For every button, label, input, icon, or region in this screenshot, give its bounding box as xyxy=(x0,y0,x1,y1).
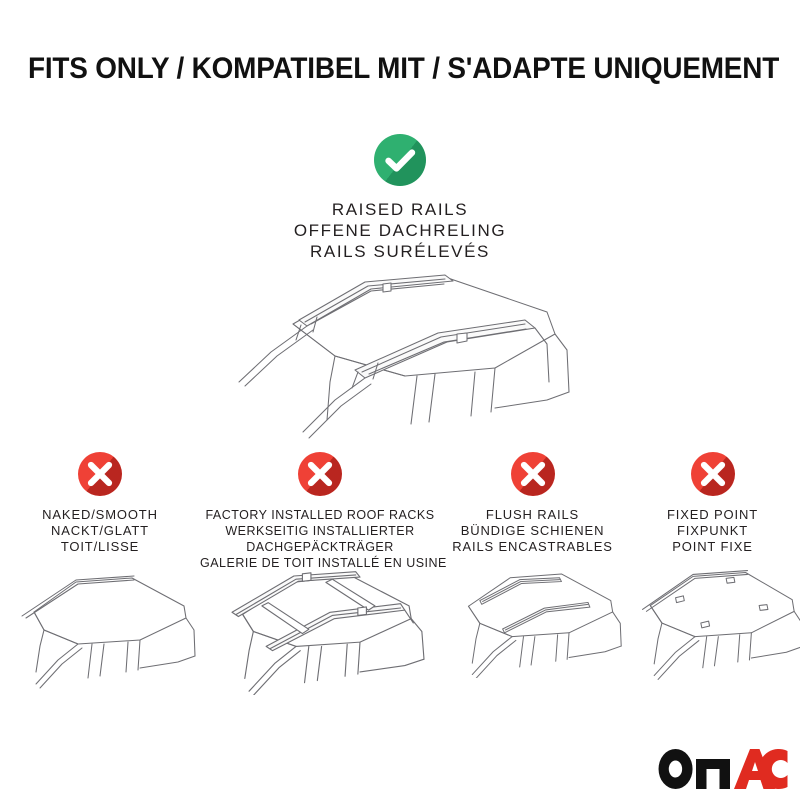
incompatible-item-factory-racks: FACTORY INSTALLED ROOF RACKS WERKSEITIG … xyxy=(200,452,440,571)
incompatible-item-flush-rails: FLUSH RAILS BÜNDIGE SCHIENEN RAILS ENCAS… xyxy=(440,452,625,555)
compatible-label-fr: RAILS SURÉLEVÉS xyxy=(0,241,800,262)
item-label-de: FIXPUNKT xyxy=(625,523,800,539)
item-label: FLUSH RAILS BÜNDIGE SCHIENEN RAILS ENCAS… xyxy=(440,507,625,555)
compatible-labels: RAISED RAILS OFFENE DACHRELING RAILS SUR… xyxy=(0,199,800,262)
car-roof-flush-rails-illustration xyxy=(440,555,625,678)
compatible-label-en: RAISED RAILS xyxy=(0,199,800,220)
omac-logo xyxy=(658,748,788,790)
item-label-en: FIXED POINT xyxy=(625,507,800,523)
item-label-fr: RAILS ENCASTRABLES xyxy=(440,539,625,555)
item-label-en: NAKED/SMOOTH xyxy=(0,507,200,523)
logo-letter-m xyxy=(696,759,730,789)
compatible-label-de: OFFENE DACHRELING xyxy=(0,220,800,241)
item-label: NAKED/SMOOTH NACKT/GLATT TOIT/LISSE xyxy=(0,507,200,555)
incompatible-section: NAKED/SMOOTH NACKT/GLATT TOIT/LISSE xyxy=(0,452,800,571)
car-roof-factory-racks-illustration xyxy=(200,544,440,695)
item-label-de-1: WERKSEITIG INSTALLIERTER xyxy=(200,523,440,539)
incompatible-item-naked-smooth: NAKED/SMOOTH NACKT/GLATT TOIT/LISSE xyxy=(0,452,200,555)
header: FITS ONLY / KOMPATIBEL MIT / S'ADAPTE UN… xyxy=(0,52,800,86)
item-label-fr: POINT FIXE xyxy=(625,539,800,555)
x-circle-icon xyxy=(691,452,735,496)
item-label-en: FLUSH RAILS xyxy=(440,507,625,523)
item-label-de: NACKT/GLATT xyxy=(0,523,200,539)
item-label-en: FACTORY INSTALLED ROOF RACKS xyxy=(200,507,440,523)
x-circle-icon xyxy=(298,452,342,496)
logo-letter-o xyxy=(659,749,693,789)
incompatible-item-fixed-point: FIXED POINT FIXPUNKT POINT FIXE xyxy=(625,452,800,555)
x-circle-icon xyxy=(511,452,555,496)
car-roof-fixed-point-illustration xyxy=(625,555,800,681)
x-circle-icon xyxy=(78,452,122,496)
item-label-fr: TOIT/LISSE xyxy=(0,539,200,555)
item-label: FIXED POINT FIXPUNKT POINT FIXE xyxy=(625,507,800,555)
check-circle-icon xyxy=(374,134,426,186)
compatible-section: RAISED RAILS OFFENE DACHRELING RAILS SUR… xyxy=(0,134,800,262)
item-label-de: BÜNDIGE SCHIENEN xyxy=(440,523,625,539)
car-roof-raised-rails-illustration xyxy=(195,272,625,447)
page-title: FITS ONLY / KOMPATIBEL MIT / S'ADAPTE UN… xyxy=(28,52,772,86)
car-roof-naked-smooth-illustration xyxy=(0,560,200,690)
